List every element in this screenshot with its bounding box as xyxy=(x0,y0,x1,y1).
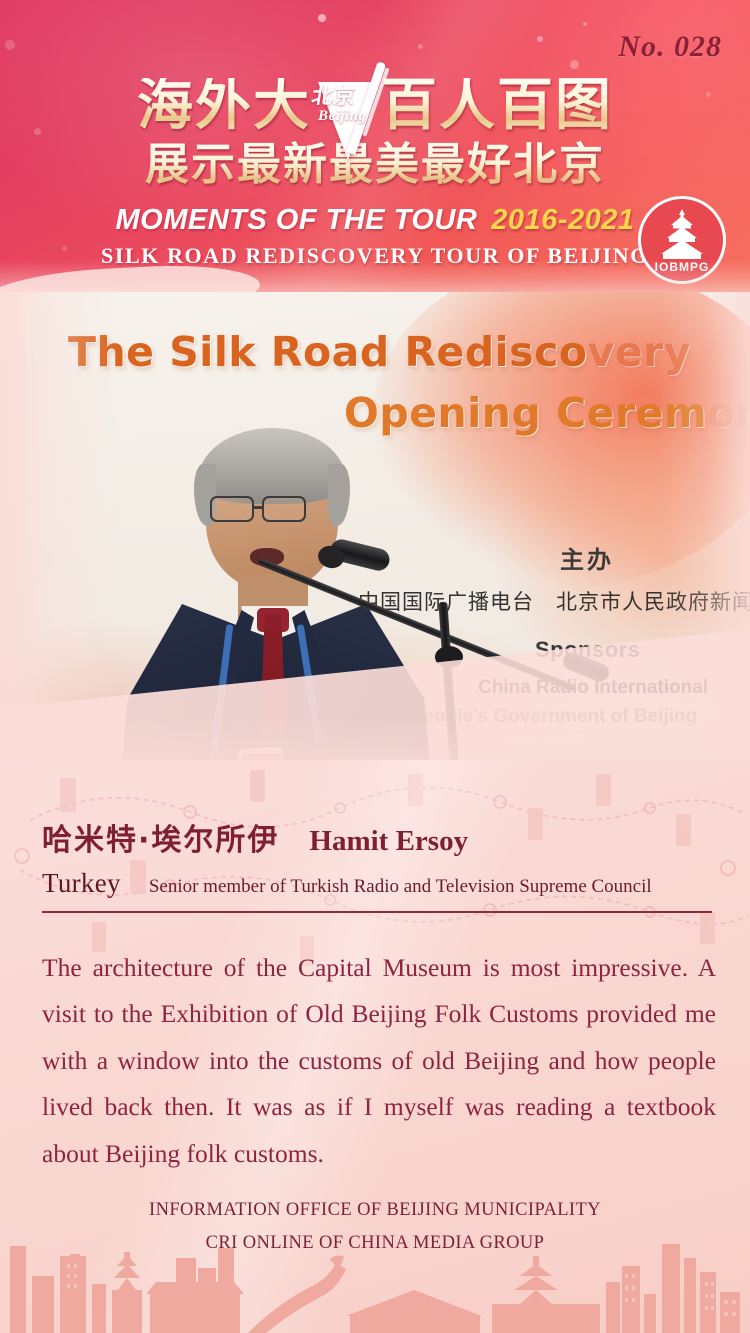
content-section: 哈米特·埃尔所伊Hamit Ersoy Turkey Senior member… xyxy=(0,760,750,1333)
english-title-years: 2016-2021 xyxy=(491,204,634,236)
poster-header: No. 028 海外大百人百图 展示最新最美最好北京 北京 Beijing MO… xyxy=(0,0,750,300)
speaker-glasses-bridge xyxy=(254,506,264,509)
speaker-hair-right xyxy=(328,464,350,526)
footer-line-1: INFORMATION OFFICE OF BEIJING MUNICIPALI… xyxy=(0,1200,750,1221)
backdrop-host-label: 主办 xyxy=(560,540,614,575)
event-photo: The Silk Road Rediscovery Opening Ceremo… xyxy=(0,292,750,808)
speaker-hair xyxy=(198,428,346,504)
decor-dot xyxy=(318,14,326,22)
chinese-title-line2: 展示最新最美最好北京 xyxy=(145,140,605,191)
decor-dot xyxy=(570,60,579,69)
section-divider xyxy=(42,911,712,913)
person-name-chinese: 哈米特·埃尔所伊 xyxy=(42,815,279,859)
chinese-title-group: 海外大百人百图 展示最新最美最好北京 xyxy=(0,78,750,191)
speaker-mouth xyxy=(250,548,284,566)
person-name-english: Hamit Ersoy xyxy=(309,825,468,858)
person-role: Senior member of Turkish Radio and Telev… xyxy=(149,876,652,898)
beijing-skyline-icon xyxy=(0,1238,750,1333)
decor-dot xyxy=(537,36,543,42)
quote-text: The architecture of the Capital Museum i… xyxy=(42,945,716,1177)
speaker-glasses-left-lens xyxy=(210,496,254,522)
decor-dot xyxy=(418,44,423,49)
person-country: Turkey xyxy=(42,868,121,899)
decor-dot xyxy=(583,22,587,26)
speaker-glasses-right-lens xyxy=(262,496,306,522)
backdrop-title-line1-main: The Silk Road Redisco xyxy=(68,328,588,376)
english-title: MOMENTS OF THE TOUR2016-2021 xyxy=(0,204,750,237)
backdrop-title-line1: The Silk Road Rediscovery xyxy=(68,328,691,376)
chinese-title-line1-right: 百人百图 xyxy=(381,73,613,138)
person-name-block: 哈米特·埃尔所伊Hamit Ersoy xyxy=(42,815,468,859)
issue-number: No. 028 xyxy=(618,30,722,64)
english-title-text: MOMENTS OF THE TOUR xyxy=(116,204,478,236)
poster-root: No. 028 海外大百人百图 展示最新最美最好北京 北京 Beijing MO… xyxy=(0,0,750,1333)
chinese-title-line1-left: 海外大 xyxy=(137,73,311,138)
chinese-title-line1: 海外大百人百图 xyxy=(137,78,613,134)
person-role-row: Turkey Senior member of Turkish Radio an… xyxy=(42,868,712,899)
decor-dot xyxy=(5,40,15,50)
